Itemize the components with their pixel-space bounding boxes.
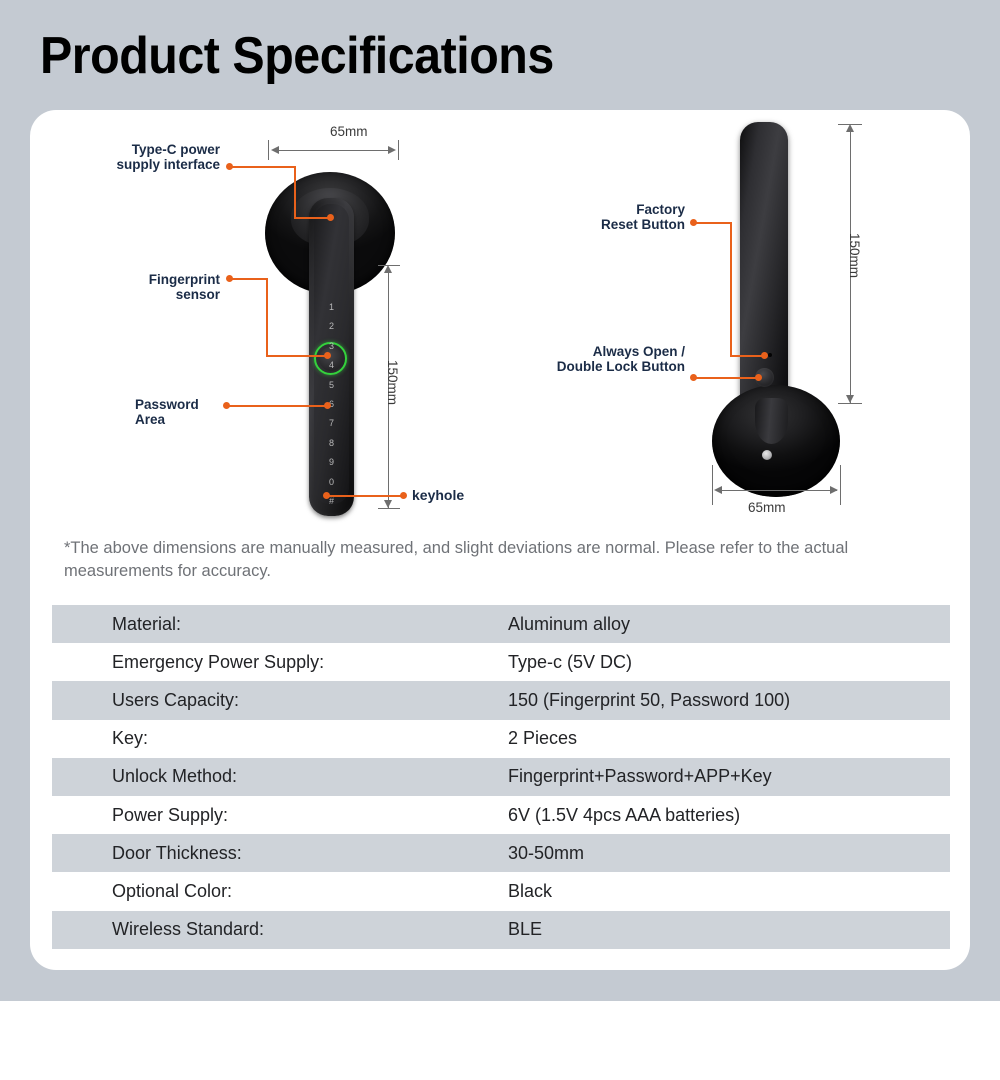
dimension-line-horizontal — [273, 150, 394, 151]
spec-key: Emergency Power Supply: — [52, 652, 508, 673]
side-rosette-screw-hole — [762, 450, 772, 460]
label-factory-reset: Factory Reset Button — [550, 203, 685, 232]
leader-line — [266, 278, 268, 356]
spec-value: 30-50mm — [508, 843, 950, 864]
table-row: Optional Color: Black — [52, 872, 950, 910]
spec-value: 2 Pieces — [508, 728, 950, 749]
factory-reset-pinhole-icon — [768, 353, 772, 357]
dimension-arrow-down-icon — [846, 395, 854, 403]
spec-key: Material: — [52, 614, 508, 635]
dimension-tick — [378, 508, 400, 509]
dimension-front-width-label: 65mm — [330, 124, 368, 139]
label-fingerprint-sensor: Fingerprint sensor — [90, 273, 220, 302]
dimension-tick — [838, 403, 862, 404]
table-row: Material: Aluminum alloy — [52, 605, 950, 643]
table-row: Door Thickness: 30-50mm — [52, 834, 950, 872]
page-root: Product Specifications 1 2 3 4 5 6 7 8 — [0, 0, 1000, 1080]
spec-value: Black — [508, 881, 950, 902]
spec-value: BLE — [508, 919, 950, 940]
dimension-arrow-up-icon — [846, 124, 854, 132]
dimension-tick — [268, 140, 269, 160]
leader-dot — [761, 352, 768, 359]
leader-line — [266, 355, 328, 357]
spec-key: Users Capacity: — [52, 690, 508, 711]
keypad-key: 9 — [309, 453, 354, 472]
dimension-arrow-right-icon — [388, 146, 396, 154]
leader-line — [696, 377, 758, 379]
dimension-tick — [840, 465, 841, 505]
dimension-arrow-down-icon — [384, 500, 392, 508]
spec-key: Unlock Method: — [52, 766, 508, 787]
dimension-line-horizontal — [716, 490, 837, 491]
measurement-disclaimer: *The above dimensions are manually measu… — [64, 537, 954, 582]
keypad-key: 4 — [309, 356, 354, 375]
side-rosette-neck — [755, 398, 788, 444]
leader-dot — [324, 352, 331, 359]
label-typec-power: Type-C power supply interface — [65, 143, 220, 172]
leader-line — [232, 278, 268, 280]
keypad-key: 3 — [309, 337, 354, 356]
table-row: Key: 2 Pieces — [52, 720, 950, 758]
keypad-key: 2 — [309, 317, 354, 336]
dimension-arrow-left-icon — [271, 146, 279, 154]
leader-line — [294, 166, 296, 219]
leader-dot — [323, 492, 330, 499]
leader-line — [730, 355, 764, 357]
content-card: 1 2 3 4 5 6 7 8 9 0 # 65mm — [30, 110, 970, 970]
spec-value: 6V (1.5V 4pcs AAA batteries) — [508, 805, 950, 826]
keypad-key: 1 — [309, 298, 354, 317]
dimension-side-height-label: 150mm — [847, 233, 862, 278]
leader-dot — [324, 402, 331, 409]
label-password-area: Password Area — [135, 398, 255, 427]
dimension-tick — [398, 140, 399, 160]
table-row: Unlock Method: Fingerprint+Password+APP+… — [52, 758, 950, 796]
leader-line — [696, 222, 732, 224]
spec-key: Door Thickness: — [52, 843, 508, 864]
keypad-key: 8 — [309, 434, 354, 453]
page-title: Product Specifications — [40, 26, 554, 86]
spec-value: Type-c (5V DC) — [508, 652, 950, 673]
keypad-key: 7 — [309, 414, 354, 433]
keypad-key: 5 — [309, 376, 354, 395]
table-row: Emergency Power Supply: Type-c (5V DC) — [52, 643, 950, 681]
keypad-key: 0 — [309, 473, 354, 492]
dimension-front-height-label: 150mm — [385, 360, 400, 405]
spec-value: Aluminum alloy — [508, 614, 950, 635]
leader-line — [232, 166, 296, 168]
diagram-side-view: 150mm 65mm Factory Reset Button Always O… — [490, 110, 970, 530]
specification-table: Material: Aluminum alloy Emergency Power… — [52, 605, 950, 949]
spec-key: Wireless Standard: — [52, 919, 508, 940]
diagram-front-view: 1 2 3 4 5 6 7 8 9 0 # 65mm — [30, 110, 490, 530]
spec-key: Key: — [52, 728, 508, 749]
leader-dot — [755, 374, 762, 381]
spec-value: Fingerprint+Password+APP+Key — [508, 766, 950, 787]
spec-key: Power Supply: — [52, 805, 508, 826]
table-row: Wireless Standard: BLE — [52, 911, 950, 949]
leader-line — [227, 405, 327, 407]
dimension-arrow-up-icon — [384, 265, 392, 273]
dimension-tick — [712, 465, 713, 505]
dimension-arrow-left-icon — [714, 486, 722, 494]
dimension-side-width-label: 65mm — [748, 500, 786, 515]
leader-line — [294, 217, 330, 219]
label-keyhole: keyhole — [412, 488, 492, 503]
spec-key: Optional Color: — [52, 881, 508, 902]
dimension-arrow-right-icon — [830, 486, 838, 494]
spec-value: 150 (Fingerprint 50, Password 100) — [508, 690, 950, 711]
table-row: Users Capacity: 150 (Fingerprint 50, Pas… — [52, 681, 950, 719]
product-diagrams: 1 2 3 4 5 6 7 8 9 0 # 65mm — [30, 110, 970, 530]
label-always-open-double-lock: Always Open / Double Lock Button — [518, 345, 685, 374]
leader-dot — [327, 214, 334, 221]
leader-line — [730, 222, 732, 356]
leader-line — [326, 495, 402, 497]
table-row: Power Supply: 6V (1.5V 4pcs AAA batterie… — [52, 796, 950, 834]
